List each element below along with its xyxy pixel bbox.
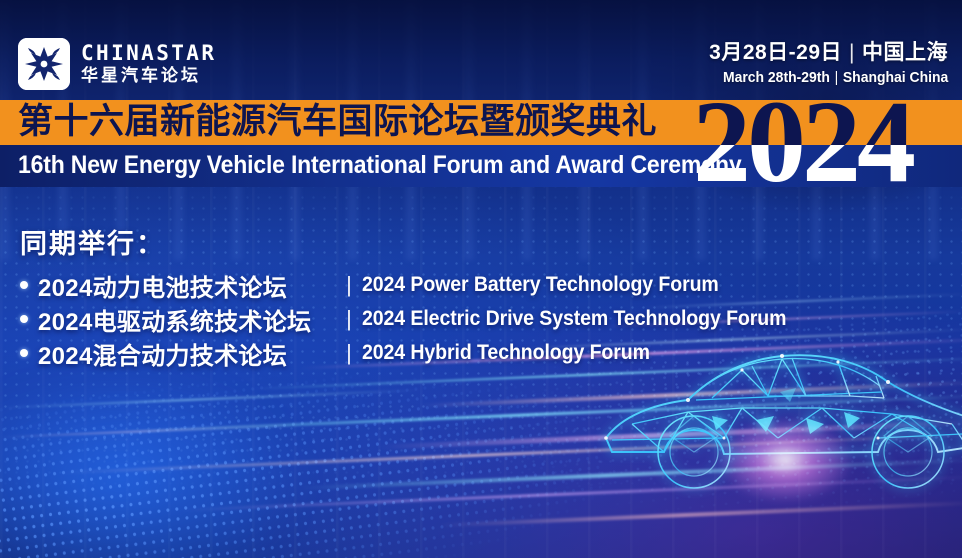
speed-streak [60, 433, 962, 475]
speed-streak [0, 424, 300, 439]
date-separator-cn: | [842, 41, 862, 64]
list-item[interactable]: 2024电驱动系统技术论坛 | 2024 Electric Drive Syst… [20, 304, 818, 334]
forum-name-en: 2024 Electric Drive System Technology Fo… [362, 307, 786, 331]
headlight-glow [690, 400, 880, 520]
event-location-cn: 中国上海 [862, 41, 948, 64]
speed-streak [380, 419, 962, 449]
forum-name-cn: 2024混合动力技术论坛 [38, 336, 336, 371]
event-date-cn: 3月28日-29日 [709, 41, 842, 64]
chinastar-emblem-icon [18, 38, 70, 90]
speed-streak [440, 501, 962, 528]
bullet-icon [20, 315, 28, 323]
forum-divider: | [336, 340, 362, 366]
speed-streak [300, 458, 962, 490]
speed-streak [420, 380, 962, 407]
bullet-icon [20, 281, 28, 289]
concurrent-forums-section: 同期举行： 2024动力电池技术论坛 | 2024 Power Battery … [20, 222, 818, 372]
forum-name-en: 2024 Hybrid Technology Forum [362, 341, 650, 365]
agenda-heading: 同期举行： [20, 222, 818, 261]
page-title-en: 16th New Energy Vehicle International Fo… [18, 145, 742, 187]
brand-name-en: CHINASTAR [81, 42, 216, 64]
forum-divider: | [336, 306, 362, 332]
speed-streak [0, 389, 420, 409]
list-item[interactable]: 2024动力电池技术论坛 | 2024 Power Battery Techno… [20, 270, 818, 300]
list-item[interactable]: 2024混合动力技术论坛 | 2024 Hybrid Technology Fo… [20, 338, 818, 368]
forum-name-cn: 2024电驱动系统技术论坛 [38, 302, 336, 337]
date-separator-en: | [830, 69, 843, 86]
page-title-cn: 第十六届新能源汽车国际论坛暨颁奖典礼 [18, 100, 657, 145]
event-location-en: Shanghai China [843, 69, 948, 86]
forum-name-cn: 2024动力电池技术论坛 [38, 268, 336, 303]
brand-name-cn: 华星汽车论坛 [81, 66, 216, 86]
event-poster: CHINASTAR 华星汽车论坛 3月28日-29日|中国上海 March 28… [0, 0, 962, 558]
poster-header: CHINASTAR 华星汽车论坛 3月28日-29日|中国上海 March 28… [0, 0, 962, 100]
forum-name-en: 2024 Power Battery Technology Forum [362, 273, 719, 297]
event-date-location: 3月28日-29日|中国上海 March 28th-29th|Shanghai … [706, 40, 948, 89]
speed-streak [120, 394, 962, 434]
speed-streak [180, 475, 962, 511]
bullet-icon [20, 349, 28, 357]
brand-logo[interactable]: CHINASTAR 华星汽车论坛 [18, 38, 216, 90]
event-date-en: March 28th-29th [723, 69, 830, 86]
forum-divider: | [336, 272, 362, 298]
